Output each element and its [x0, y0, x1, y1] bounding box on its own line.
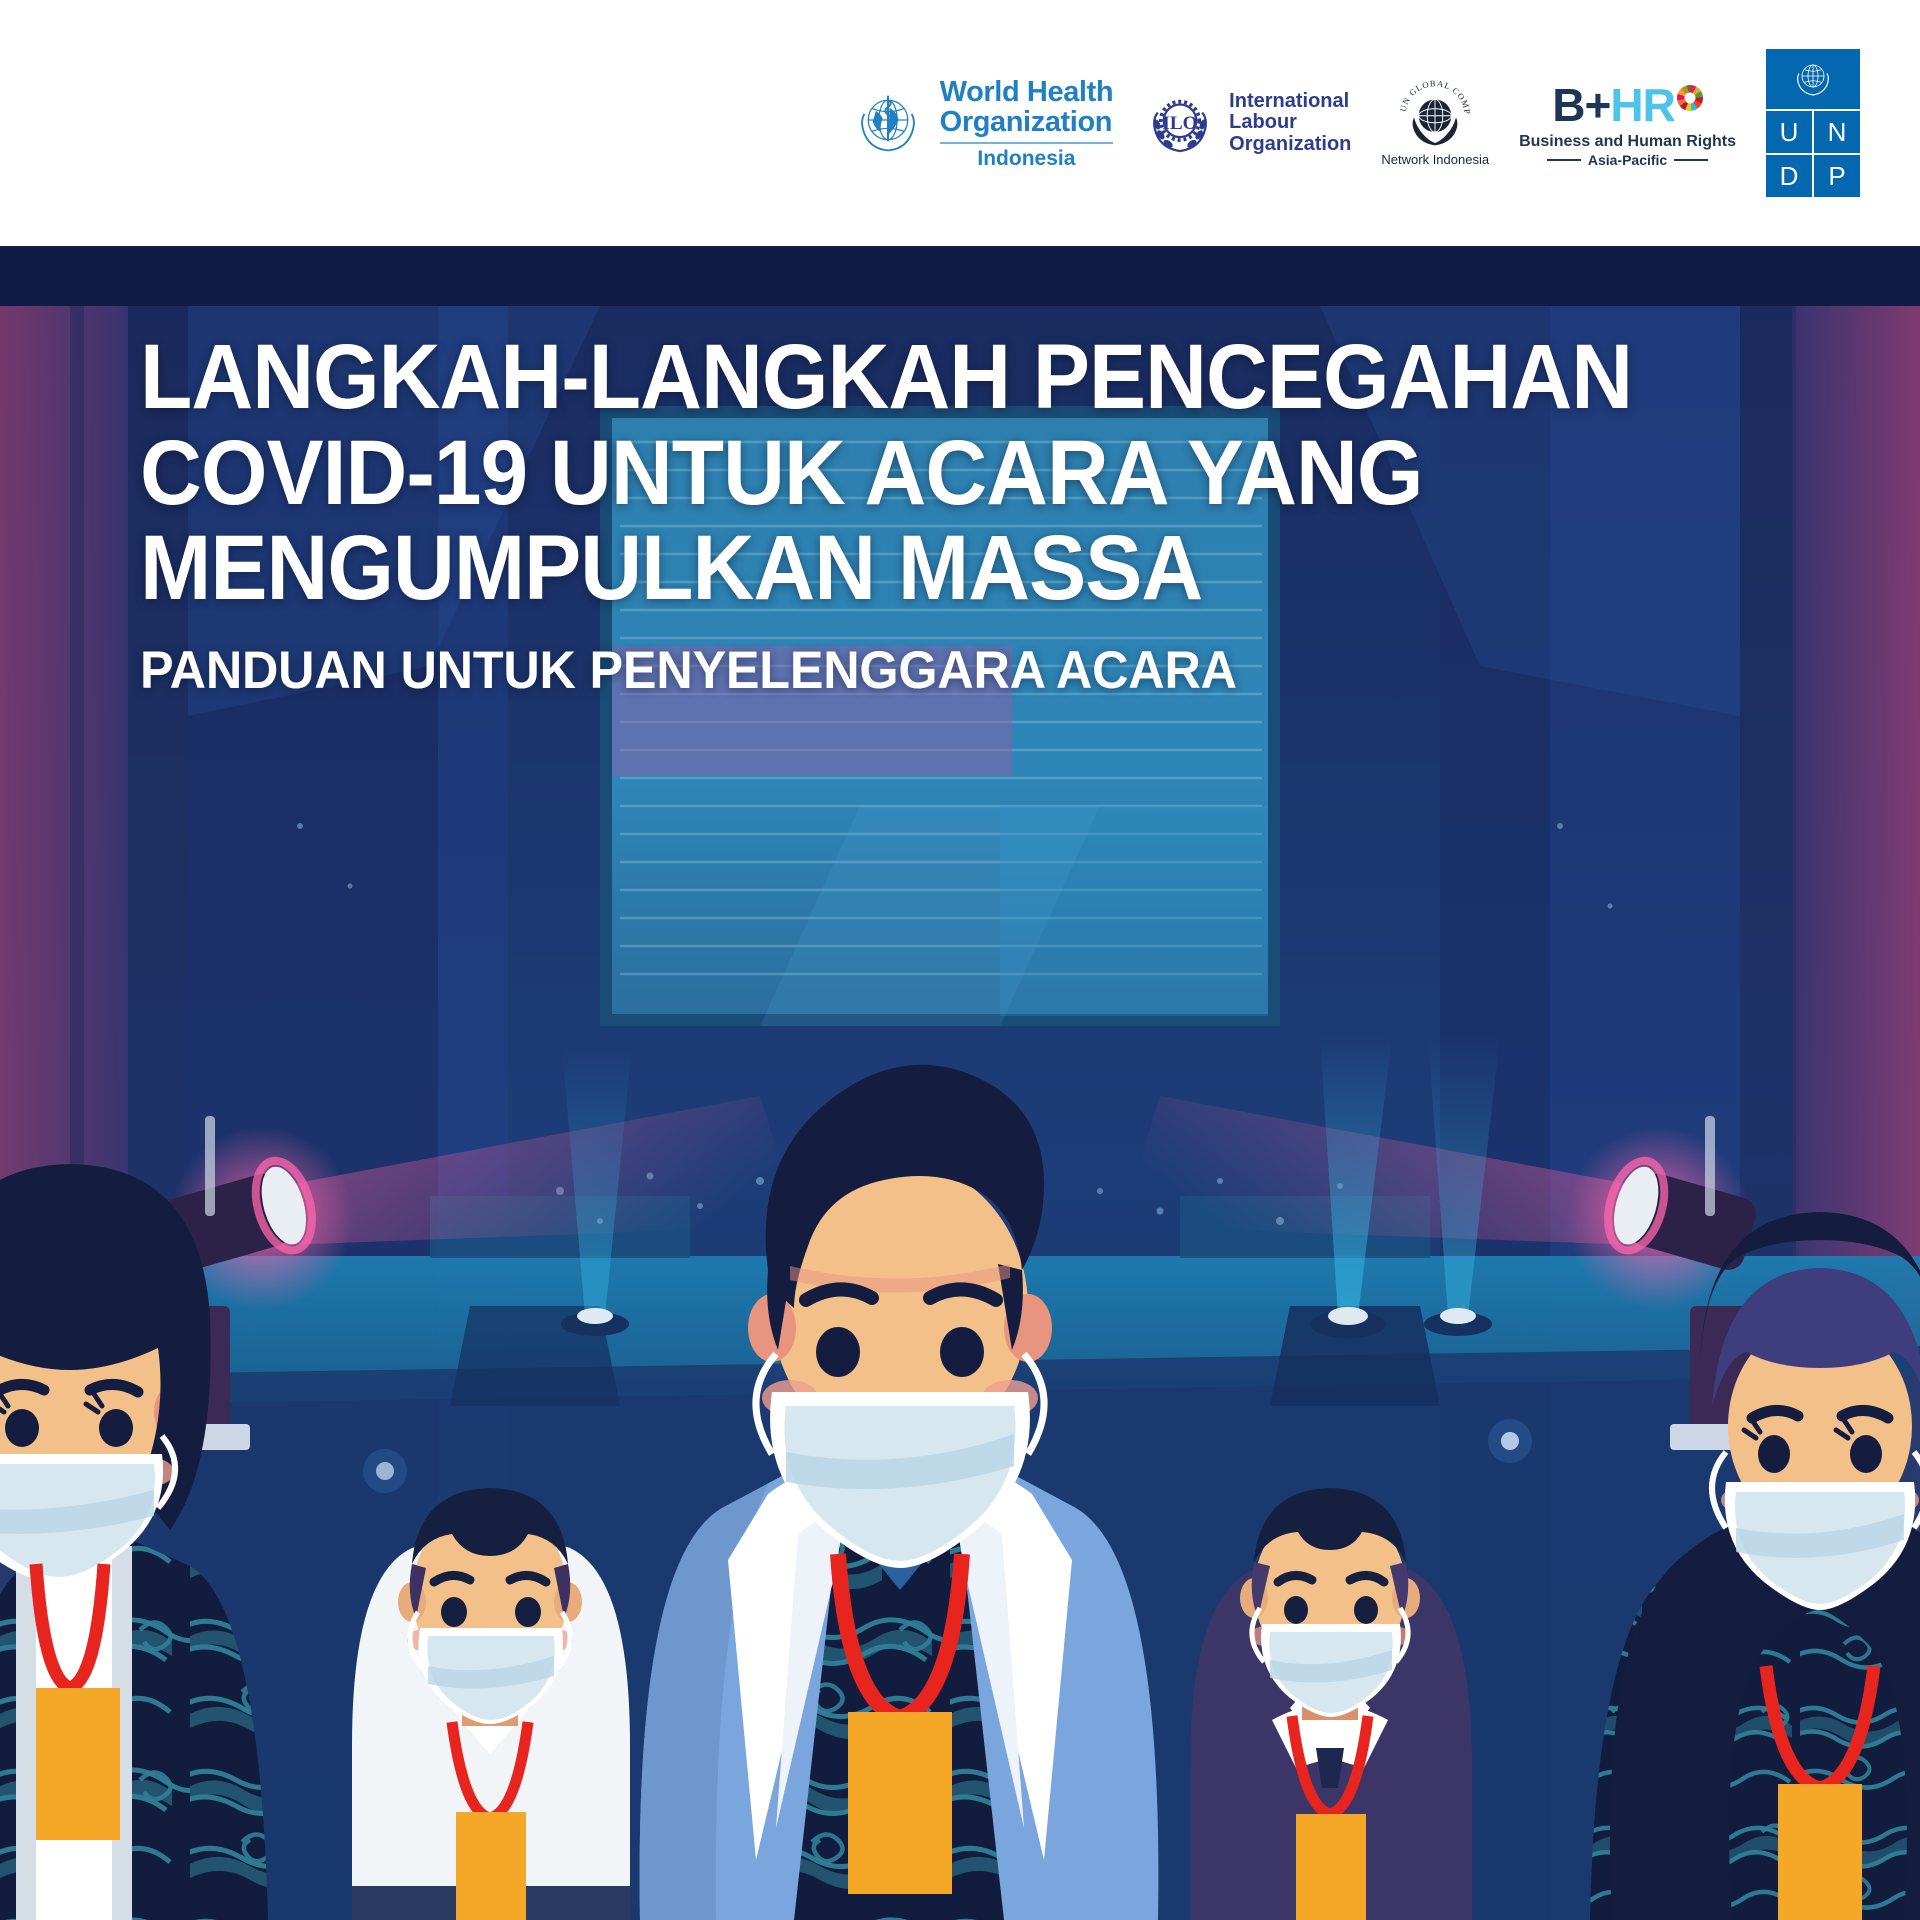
logo-business-and-human-rights: B+ HR Business and Human Rights Asia-Pac… [1519, 78, 1736, 168]
ilo-line3: Organization [1229, 134, 1351, 156]
logo-header-bar: World Health Organization Indonesia ILO [0, 0, 1920, 246]
ilo-wordmark: International Labour Organization [1229, 91, 1351, 156]
who-wordmark: World Health Organization Indonesia [940, 78, 1114, 169]
ungc-network-label: Network Indonesia [1381, 152, 1489, 167]
who-divider [940, 142, 1114, 144]
figure-man-blue-blazer-batik [640, 1065, 1159, 1920]
bhr-hr-mark: HR [1610, 78, 1674, 132]
bhr-b-mark: B+ [1552, 78, 1610, 132]
ilo-line1: International [1229, 91, 1351, 113]
ilo-emblem-icon: ILO [1143, 86, 1217, 160]
figure-woman-dark-hair-batik [0, 1164, 268, 1920]
hero-subtitle: PANDUAN UNTUK PENYELENGGARA ACARA [140, 639, 1698, 703]
logo-undp: U N D P [1766, 49, 1860, 197]
undp-letter-grid: U N D P [1766, 109, 1860, 197]
hero-title-line-1: LANGKAH-LANGKAH PENCEGAHAN [140, 330, 1665, 426]
undp-box: U N D P [1766, 49, 1860, 197]
hero-title-line-2: COVID-19 UNTUK ACARA YANG [140, 426, 1665, 522]
who-line2: Organization [940, 108, 1114, 137]
bhr-wordmark: B+ HR [1552, 78, 1703, 132]
figure-man-purple-vest [1190, 1488, 1472, 1920]
sdg-wheel-icon [1677, 85, 1703, 111]
undp-letter-d: D [1766, 155, 1812, 197]
figure-woman-hijab-batik [1590, 1212, 1920, 1920]
poster-root: World Health Organization Indonesia ILO [0, 0, 1920, 1920]
who-line1: World Health [940, 78, 1114, 107]
bhr-subtitle-2: Asia-Pacific [1588, 152, 1667, 168]
figure-man-white-shirt [352, 1488, 630, 1920]
bhr-rule-left [1547, 159, 1581, 161]
hero-title-line-3: MENGUMPULKAN MASSA [140, 521, 1665, 617]
logo-world-health-organization: World Health Organization Indonesia [850, 78, 1114, 169]
undp-letter-p: P [1814, 155, 1860, 197]
ilo-line2: Labour [1229, 112, 1351, 134]
svg-text:ILO: ILO [1163, 113, 1198, 134]
bhr-rule-right [1674, 159, 1708, 161]
logo-international-labour-organization: ILO International [1143, 86, 1351, 160]
undp-letter-n: N [1814, 111, 1860, 153]
undp-letter-u: U [1766, 111, 1812, 153]
hero-title-block: LANGKAH-LANGKAH PENCEGAHAN COVID-19 UNTU… [140, 330, 1780, 703]
logo-un-global-compact: UN GLOBAL COMPACT Network Indonesi [1381, 80, 1489, 167]
bhr-subtitle-1: Business and Human Rights [1519, 133, 1736, 151]
ungc-emblem-icon: UN GLOBAL COMPACT [1396, 80, 1474, 150]
who-country-label: Indonesia [940, 148, 1114, 169]
un-emblem-icon [1766, 49, 1860, 109]
bhr-subtitle-2-row: Asia-Pacific [1547, 152, 1708, 168]
who-emblem-icon [850, 85, 926, 161]
